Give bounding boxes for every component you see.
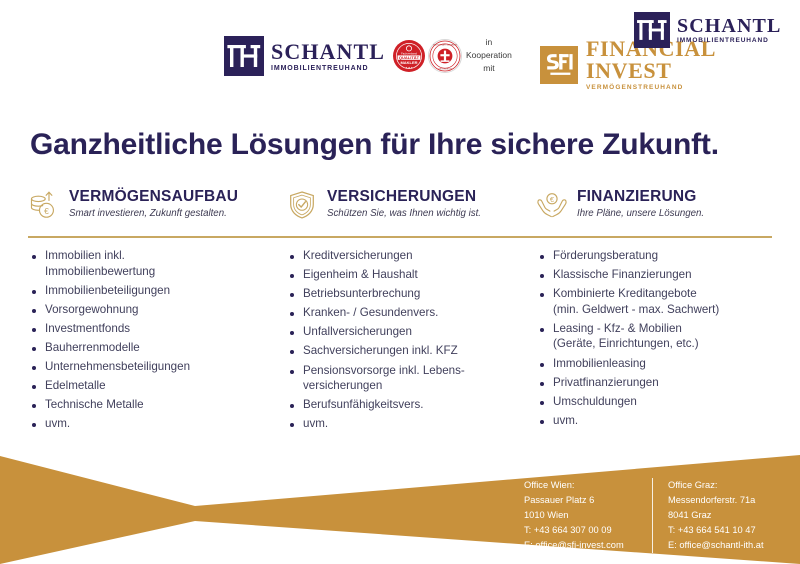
list-item-line1: Investmentfonds (45, 322, 130, 335)
column-vermoegensaufbau: € VERMÖGENSAUFBAU Smart investieren, Zuk… (28, 188, 286, 232)
list-item-line1: Leasing - Kfz- & Mobilien (553, 322, 682, 335)
list-item-line1: Kombinierte Kreditangebote (553, 287, 697, 300)
wko-seal-icon: WIRTSCHAFTSKAMMER ÖSTERREICH (428, 39, 462, 73)
office-graz-block: Office Graz: Messendorferstr. 71a 8041 G… (652, 478, 764, 553)
list-item-line1: Unfallversicherungen (303, 325, 412, 338)
list-item-line1: Sachversicherungen inkl. KFZ (303, 344, 458, 357)
list-item: uvm. (536, 415, 772, 427)
list-finanzierung: Förderungsberatung Klassische Finanzieru… (536, 250, 772, 437)
office-city: 1010 Wien (524, 508, 652, 523)
svg-text:ÖSTERREICH: ÖSTERREICH (438, 68, 452, 71)
hands-holding-euro-icon: € (536, 189, 568, 221)
list-item: Sachversicherungen inkl. KFZ (286, 345, 536, 357)
schantl-wordmark: SCHANTL IMMOBILIENTREUHAND (271, 41, 385, 72)
list-item-line1: Klassische Finanzierungen (553, 268, 692, 281)
list-item-line1: Immobilienleasing (553, 357, 646, 370)
list-item: uvm. (28, 418, 286, 430)
svg-text:★ ★ ★: ★ ★ ★ (405, 66, 412, 69)
list-item-line1: Eigenheim & Haushalt (303, 268, 418, 281)
list-item-line1: Betriebsunterbrechung (303, 287, 420, 300)
schantl-name: SCHANTL (677, 16, 781, 36)
column-finanzierung: € FINANZIERUNG Ihre Pläne, unsere Lösung… (536, 188, 772, 232)
column-title: VERSICHERUNGEN (327, 188, 481, 205)
column-title: VERMÖGENSAUFBAU (69, 188, 238, 205)
office-phone[interactable]: T: +43 664 307 00 09 (524, 523, 652, 538)
list-item: Immobilienleasing (536, 358, 772, 370)
coop-line-2: Kooperation (466, 49, 512, 62)
list-item: Immobilien inkl. Immobilienbewertung (28, 250, 286, 277)
office-street: Passauer Platz 6 (524, 493, 652, 508)
sfi-subtitle: VERMÖGENSTREUHAND (586, 85, 800, 92)
list-item: Klassische Finanzierungen (536, 269, 772, 281)
list-item: Immobilienbeteiligungen (28, 285, 286, 297)
column-subtitle: Ihre Pläne, unsere Lösungen. (577, 208, 704, 220)
list-item-line1: Umschuldungen (553, 395, 637, 408)
schantl-logo-left: SCHANTL IMMOBILIENTREUHAND Fachverband Q… (224, 36, 462, 76)
list-item: Privatfinanzierungen (536, 377, 772, 389)
list-item-line1: Unternehmensbeteiligungen (45, 360, 190, 373)
svg-text:€: € (44, 206, 49, 216)
list-item-line1: Privatfinanzierungen (553, 376, 659, 389)
office-title: Office Wien: (524, 478, 652, 493)
schantl-subtitle: IMMOBILIENTREUHAND (271, 65, 385, 72)
list-item-line1: uvm. (45, 417, 70, 430)
list-item-line1: Berufsunfähigkeitsvers. (303, 398, 424, 411)
schantl-wordmark: SCHANTL IMMOBILIENTREUHAND (677, 16, 781, 45)
footer-contact-info: Office Wien: Passauer Platz 6 1010 Wien … (524, 478, 764, 553)
list-item-line1: Immobilien inkl. (45, 249, 125, 262)
list-item-line2: (min. Geldwert - max. Sachwert) (553, 304, 772, 316)
list-vermoegensaufbau: Immobilien inkl. Immobilienbewertung Imm… (28, 250, 286, 437)
coop-line-1: in (466, 36, 512, 49)
office-city: 8041 Graz (668, 508, 764, 523)
schantl-name: SCHANTL (271, 41, 385, 63)
logo-strip: SCHANTL IMMOBILIENTREUHAND Fachverband Q… (0, 0, 800, 100)
office-email[interactable]: E: office@schantl-ith.at (668, 538, 764, 553)
list-item-line1: Vorsorgewohnung (45, 303, 138, 316)
list-item: Kranken- / Gesundenvers. (286, 307, 536, 319)
list-item: Unternehmensbeteiligungen (28, 361, 286, 373)
list-item-line1: Förderungsberatung (553, 249, 658, 262)
list-item: Berufsunfähigkeitsvers. (286, 399, 536, 411)
list-item: Betriebsunterbrechung (286, 288, 536, 300)
list-item: uvm. (286, 418, 536, 430)
column-versicherungen: VERSICHERUNGEN Schützen Sie, was Ihnen w… (286, 188, 536, 232)
list-item: Edelmetalle (28, 380, 286, 392)
coins-euro-growth-icon: € (28, 189, 60, 221)
sfi-monogram-icon (540, 46, 578, 84)
list-item-line1: Edelmetalle (45, 379, 106, 392)
list-item: Kreditversicherungen (286, 250, 536, 262)
office-street: Messendorferstr. 71a (668, 493, 764, 508)
list-item-line1: Bauherrenmodelle (45, 341, 140, 354)
svg-text:MAKLER: MAKLER (401, 60, 418, 65)
shield-check-icon (286, 189, 318, 221)
ith-monogram-icon (224, 36, 264, 76)
poster-page: SCHANTL IMMOBILIENTREUHAND Fachverband Q… (0, 0, 800, 564)
list-item-line1: uvm. (553, 414, 578, 427)
list-item-line1: Pensionsvorsorge inkl. Lebens- (303, 364, 465, 377)
list-item-line1: Immobilienbeteiligungen (45, 284, 170, 297)
column-title: FINANZIERUNG (577, 188, 704, 205)
list-item-line2: Immobilienbewertung (45, 266, 286, 278)
list-item: Bauherrenmodelle (28, 342, 286, 354)
schantl-subtitle: IMMOBILIENTREUHAND (677, 38, 781, 45)
list-item: Umschuldungen (536, 396, 772, 408)
svg-text:WIRTSCHAFTSKAMMER: WIRTSCHAFTSKAMMER (433, 43, 458, 46)
list-item: Unfallversicherungen (286, 326, 536, 338)
office-email[interactable]: E: office@sfi-invest.com (524, 538, 652, 553)
list-item: Eigenheim & Haushalt (286, 269, 536, 281)
certification-seals: Fachverband QUALITÄT MAKLER ★ ★ ★ (393, 39, 462, 73)
list-item: Leasing - Kfz- & Mobilien (Geräte, Einri… (536, 323, 772, 350)
cooperation-note: in Kooperation mit (466, 36, 512, 76)
ith-monogram-icon (634, 12, 670, 48)
list-item: Vorsorgewohnung (28, 304, 286, 316)
list-item: Förderungsberatung (536, 250, 772, 262)
office-phone[interactable]: T: +43 664 541 10 47 (668, 523, 764, 538)
list-item-line1: Technische Metalle (45, 398, 144, 411)
list-item-line2: versicherungen (303, 380, 536, 392)
list-item-line1: Kreditversicherungen (303, 249, 413, 262)
list-item: Pensionsvorsorge inkl. Lebens- versicher… (286, 365, 536, 392)
column-subtitle: Smart investieren, Zukunft gestalten. (69, 208, 238, 220)
list-item: Kombinierte Kreditangebote (min. Geldwer… (536, 288, 772, 315)
schantl-logo-right: SCHANTL IMMOBILIENTREUHAND (634, 12, 781, 48)
column-subtitle: Schützen Sie, was Ihnen wichtig ist. (327, 208, 481, 220)
office-wien-block: Office Wien: Passauer Platz 6 1010 Wien … (524, 478, 652, 553)
list-item-line2: (Geräte, Einrichtungen, etc.) (553, 338, 772, 350)
coop-line-3: mit (466, 62, 512, 75)
service-column-headers: € VERMÖGENSAUFBAU Smart investieren, Zuk… (28, 188, 772, 232)
list-item-line1: uvm. (303, 417, 328, 430)
office-title: Office Graz: (668, 478, 764, 493)
list-item: Technische Metalle (28, 399, 286, 411)
section-divider (28, 236, 772, 238)
page-title: Ganzheitliche Lösungen für Ihre sichere … (30, 128, 719, 162)
list-item-line1: Kranken- / Gesundenvers. (303, 306, 438, 319)
list-item: Investmentfonds (28, 323, 286, 335)
svg-text:€: € (550, 195, 555, 204)
service-lists: Immobilien inkl. Immobilienbewertung Imm… (28, 250, 772, 437)
qualitaets-makler-seal-icon: Fachverband QUALITÄT MAKLER ★ ★ ★ (393, 40, 425, 72)
list-versicherungen: Kreditversicherungen Eigenheim & Haushal… (286, 250, 536, 437)
